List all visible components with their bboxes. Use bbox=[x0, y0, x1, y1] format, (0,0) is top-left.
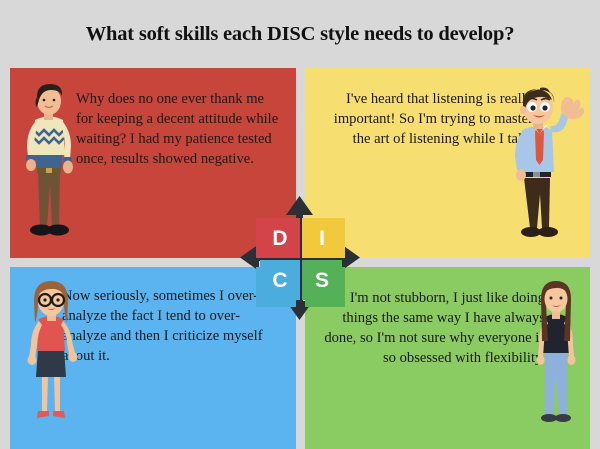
disc-cell-d[interactable]: D bbox=[260, 218, 300, 258]
woman-jeans-illustration bbox=[528, 279, 584, 431]
man-sweater-illustration bbox=[18, 80, 80, 252]
disc-cell-i[interactable]: I bbox=[302, 218, 342, 258]
woman-glasses-illustration bbox=[20, 279, 82, 431]
quadrant-d-text: Why does no one ever thank me for keepin… bbox=[76, 90, 284, 169]
disc-center-badge: D I C S bbox=[260, 218, 342, 300]
disc-cell-s[interactable]: S bbox=[302, 260, 342, 300]
disc-cell-c[interactable]: C bbox=[260, 260, 300, 300]
man-waving-illustration bbox=[500, 86, 586, 250]
